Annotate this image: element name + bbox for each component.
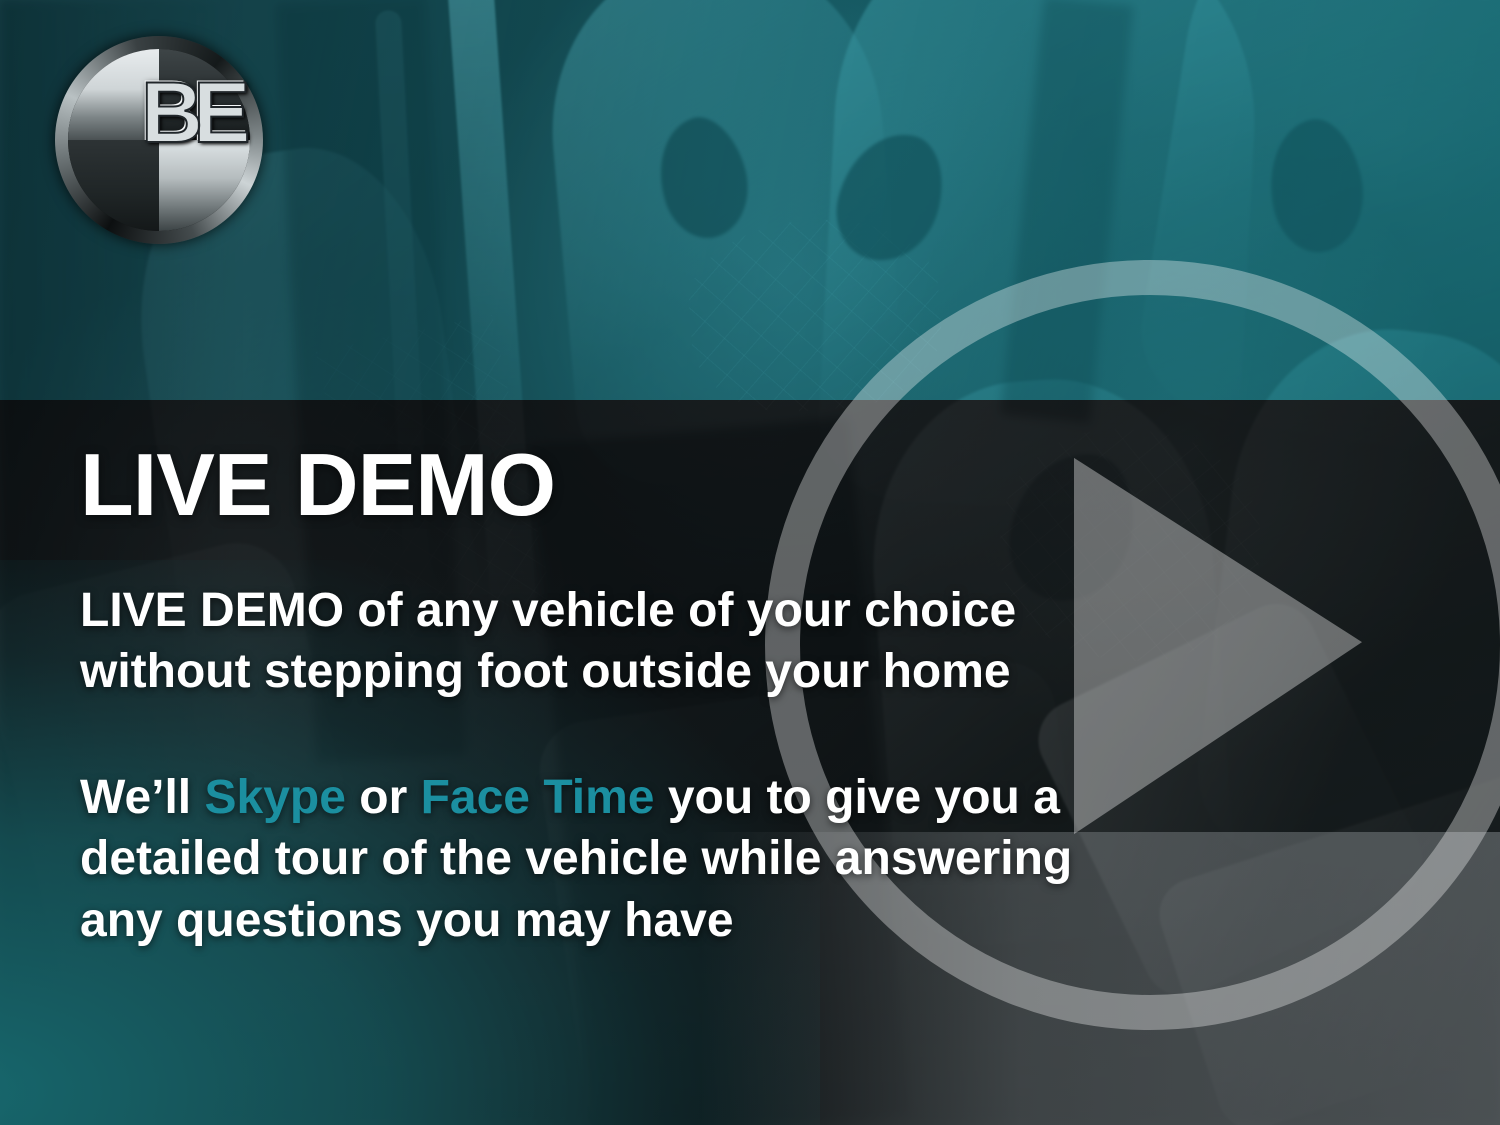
page-title: LIVE DEMO <box>80 440 1140 530</box>
hero-paragraph-2-line-2: detailed tour of the vehicle while answe… <box>80 828 1140 889</box>
hero-paragraph-1: LIVE DEMO of any vehicle of your choice … <box>80 580 1140 703</box>
logo-letters: BE <box>141 70 240 156</box>
live-demo-slide: BE LIVE DEMO LIVE DEMO of any vehicle of… <box>0 0 1500 1125</box>
text-tail: you to give you a <box>654 771 1059 824</box>
hero-paragraph-1-line-1: LIVE DEMO of any vehicle of your choice <box>80 580 1140 641</box>
skype-accent-text: Skype <box>204 771 345 824</box>
hero-paragraph-2: We’ll Skype or Face Time you to give you… <box>80 767 1140 951</box>
hero-paragraph-2-line-3: any questions you may have <box>80 890 1140 951</box>
hero-paragraph-2-line-1: We’ll Skype or Face Time you to give you… <box>80 767 1140 828</box>
text-or: or <box>346 771 421 824</box>
hero-paragraph-1-line-2: without stepping foot outside your home <box>80 641 1140 702</box>
hero-copy-block: LIVE DEMO LIVE DEMO of any vehicle of yo… <box>80 440 1140 951</box>
be-roundel-logo[interactable]: BE <box>55 36 263 244</box>
text-well: We’ll <box>80 771 204 824</box>
facetime-accent-text: Face Time <box>421 771 655 824</box>
